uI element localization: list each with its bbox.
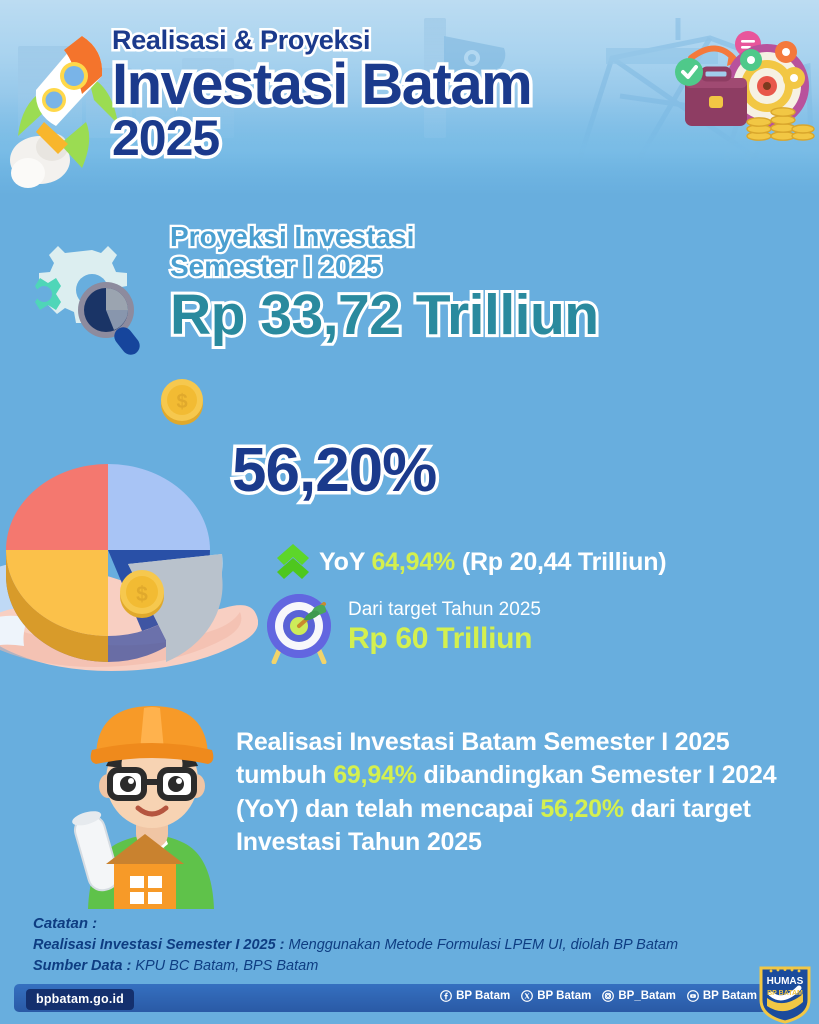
social-handles: BP Batam BP Batam BP_Batam BP — [440, 990, 757, 1002]
notes-line-2-value: KPU BC Batam, BPS Batam — [131, 958, 318, 974]
yoy-text: YoY 64,94% (Rp 20,44 Trilliun) — [319, 548, 666, 577]
twitter-x-icon — [521, 990, 533, 1002]
notes-line-1-label: Realisasi Investasi Semester I 2025 : — [33, 937, 285, 953]
yoy-growth: 64,94% — [371, 548, 455, 576]
target-row: Dari target Tahun 2025 Rp 60 Trilliun — [262, 590, 541, 664]
notes-line-2: Sumber Data : KPU BC Batam, BPS Batam — [33, 956, 793, 977]
projection-value: Rp 33,72 Trilliun — [170, 286, 810, 346]
yoy-row: YoY 64,94% (Rp 20,44 Trilliun) — [276, 543, 666, 581]
social-item-twitter[interactable]: BP Batam — [521, 990, 591, 1002]
double-chevron-up-icon — [276, 543, 310, 581]
notes-line-1: Realisasi Investasi Semester I 2025 : Me… — [33, 935, 793, 956]
title-block: Realisasi & Proyeksi Investasi Batam 202… — [112, 26, 682, 163]
yoy-prefix: YoY — [319, 548, 365, 576]
rocket-icon — [8, 28, 126, 193]
website-url[interactable]: bpbatam.go.id — [26, 989, 134, 1010]
gear-magnifier-icon — [6, 232, 178, 360]
header-kicker: Realisasi & Proyeksi — [112, 26, 682, 55]
notes-title: Catatan : — [33, 913, 793, 935]
humas-bp-batam-shield-logo: HUMAS BP BATAM — [757, 962, 813, 1024]
achievement-percent: 56,20% — [232, 440, 436, 502]
summary-paragraph: Realisasi Investasi Batam Semester I 202… — [236, 726, 796, 859]
summary-seg-3: 56,20% — [540, 795, 624, 823]
summary-seg-1: 69,94% — [333, 761, 417, 789]
youtube-icon — [687, 990, 699, 1002]
briefcase-target-coins-icon — [665, 12, 815, 152]
logo-line-2: BP BATAM — [767, 990, 803, 997]
social-handle-youtube: BP Batam — [703, 990, 757, 1002]
projection-block: Proyeksi Investasi Semester I 2025 Rp 33… — [170, 222, 810, 346]
social-handle-twitter: BP Batam — [537, 990, 591, 1002]
facebook-icon — [440, 990, 452, 1002]
social-handle-facebook: BP Batam — [456, 990, 510, 1002]
projection-label-line2: Semester I 2025 — [170, 252, 810, 282]
logo-line-1: HUMAS — [767, 976, 804, 987]
social-item-instagram[interactable]: BP_Batam — [602, 990, 676, 1002]
header-year: 2025 — [112, 113, 682, 163]
infographic-poster: Realisasi & Proyeksi Investasi Batam 202… — [0, 0, 819, 1024]
social-handle-instagram: BP_Batam — [618, 990, 676, 1002]
notes-line-1-value: Menggunakan Metode Formulasi LPEM UI, di… — [285, 937, 679, 953]
svg-text:$: $ — [176, 391, 187, 413]
projection-label-line1: Proyeksi Investasi — [170, 222, 810, 252]
svg-text:$: $ — [136, 583, 148, 606]
engineer-character-icon — [48, 694, 253, 909]
header-title: Investasi Batam — [112, 57, 682, 113]
header-banner: Realisasi & Proyeksi Investasi Batam 202… — [0, 0, 819, 196]
instagram-icon — [602, 990, 614, 1002]
social-item-facebook[interactable]: BP Batam — [440, 990, 510, 1002]
pie-chart-hand-icon: $ $ — [0, 378, 258, 698]
social-item-youtube[interactable]: BP Batam — [687, 990, 757, 1002]
yoy-amount: (Rp 20,44 Trilliun) — [462, 548, 667, 576]
target-dartboard-icon — [262, 590, 336, 664]
target-value: Rp 60 Trilliun — [348, 622, 541, 657]
notes-block: Catatan : Realisasi Investasi Semester I… — [33, 913, 793, 977]
target-caption: Dari target Tahun 2025 — [348, 598, 541, 622]
notes-line-2-label: Sumber Data : — [33, 958, 131, 974]
